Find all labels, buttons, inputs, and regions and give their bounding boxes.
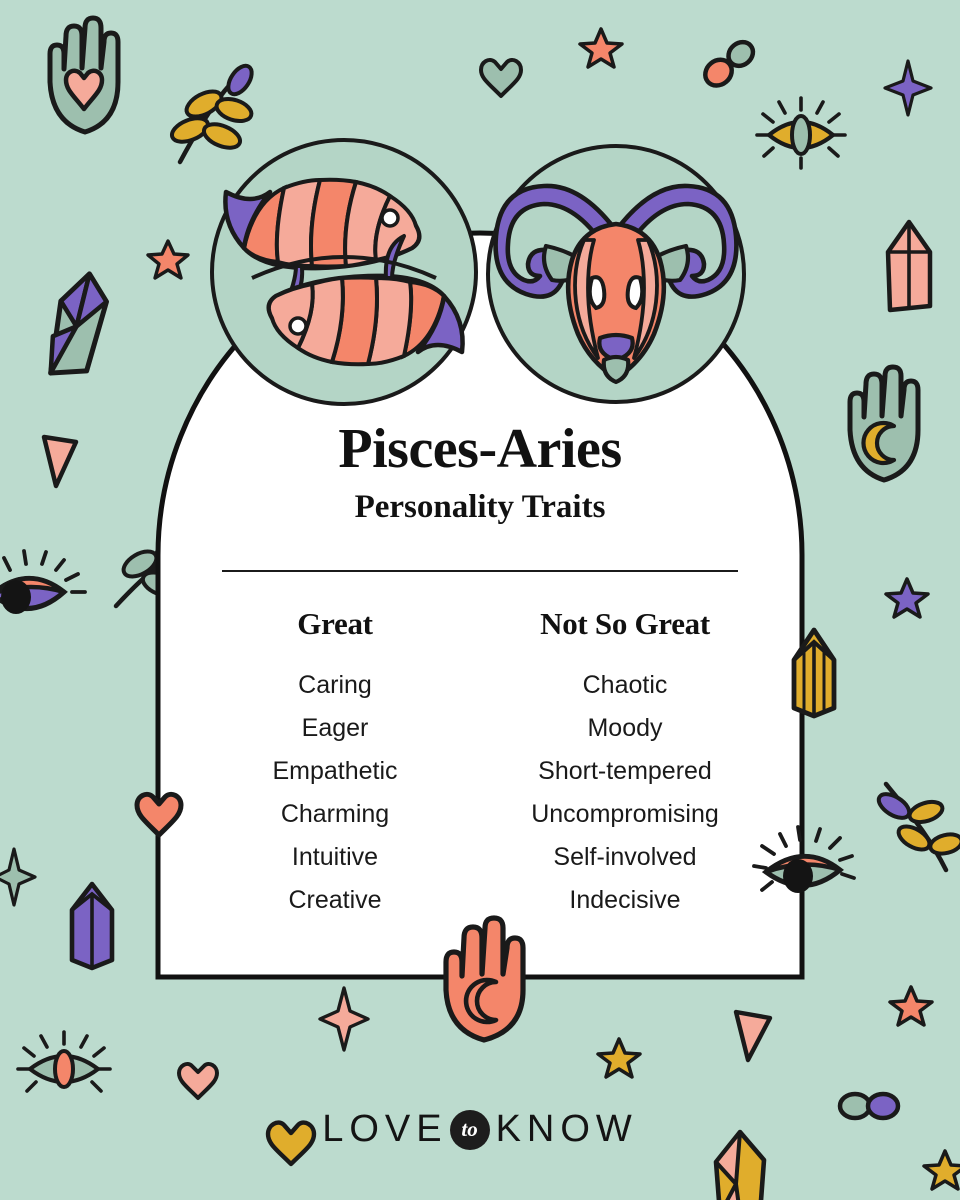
divider (222, 570, 738, 572)
sparkle-icon (0, 848, 36, 906)
eye-icon (755, 96, 847, 174)
trait-item: Uncompromising (480, 793, 770, 836)
infographic-canvas: Pisces-Aries Personality Traits Great Ca… (0, 0, 960, 1200)
star-icon (884, 576, 930, 620)
trait-item: Intuitive (190, 836, 480, 879)
crystal-icon (32, 268, 132, 390)
trait-item: Moody (480, 707, 770, 750)
trait-item: Eager (190, 707, 480, 750)
column-not-so-great: Not So Great Chaotic Moody Short-tempere… (480, 606, 770, 922)
trait-item: Creative (190, 879, 480, 922)
lovetoknow-logo: LOVE to KNOW (0, 1108, 960, 1151)
trait-item: Short-tempered (480, 750, 770, 793)
star-icon (888, 984, 934, 1028)
hand-moon-icon (832, 364, 936, 488)
star-icon (922, 1148, 960, 1192)
trait-item: Indecisive (480, 879, 770, 922)
trait-item: Empathetic (190, 750, 480, 793)
logo-word-love: LOVE (322, 1108, 447, 1151)
sparkle-icon (884, 60, 932, 116)
trait-item: Chaotic (480, 664, 770, 707)
infinity-icon (700, 32, 760, 94)
page-title: Pisces-Aries (338, 421, 621, 477)
column-great: Great Caring Eager Empathetic Charming I… (190, 606, 480, 922)
triangle-icon (36, 432, 82, 490)
trait-item: Self-involved (480, 836, 770, 879)
column-heading: Great (190, 606, 480, 642)
logo-badge-to: to (450, 1110, 490, 1150)
leaf-branch-icon (160, 58, 260, 168)
trait-card: Pisces-Aries Personality Traits Great Ca… (155, 225, 805, 980)
logo-word-know: KNOW (496, 1108, 638, 1151)
eye-icon (0, 548, 92, 632)
heart-icon (176, 1060, 220, 1102)
crystal-icon (62, 880, 122, 972)
column-heading: Not So Great (480, 606, 770, 642)
star-icon (596, 1036, 642, 1080)
logo-badge-text: to (461, 1119, 477, 1140)
trait-item: Charming (190, 793, 480, 836)
trait-item: Caring (190, 664, 480, 707)
triangle-icon (726, 1006, 776, 1064)
star-icon (578, 26, 624, 70)
hand-heart-icon (30, 14, 140, 142)
page-subtitle: Personality Traits (355, 491, 606, 524)
leaf-branch-icon (880, 778, 960, 878)
crystal-icon (878, 218, 940, 316)
sparkle-icon (318, 986, 370, 1052)
eye-icon (14, 1028, 114, 1106)
traits-columns: Great Caring Eager Empathetic Charming I… (155, 606, 805, 922)
heart-icon (478, 56, 524, 100)
